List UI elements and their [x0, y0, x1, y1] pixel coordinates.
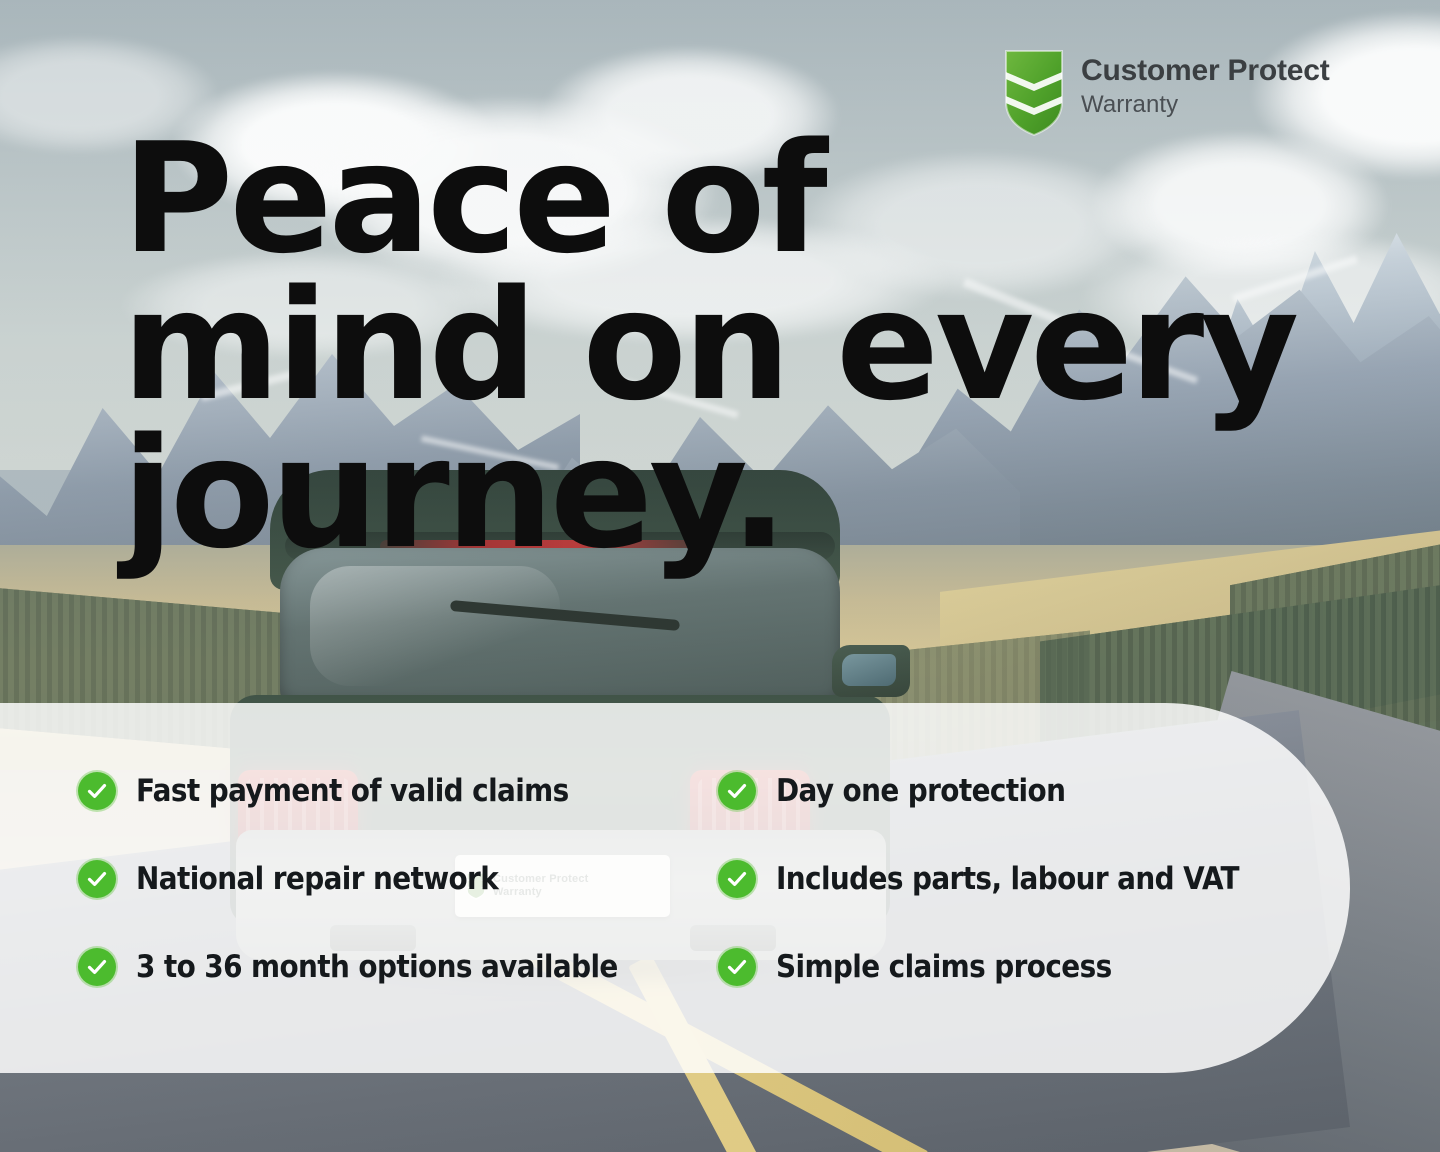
brand-title: Customer Protect	[1081, 55, 1330, 87]
feature-list: Fast payment of valid claims Day one pro…	[78, 747, 1338, 1011]
brand-logo: Customer Protect Warranty	[1005, 50, 1330, 136]
check-icon	[85, 955, 109, 979]
brand-subtitle: Warranty	[1081, 91, 1330, 119]
headline-line-2: mind on every	[122, 272, 1302, 419]
page-title: Peace of mind on every journey.	[122, 125, 1302, 567]
check-icon	[725, 955, 749, 979]
check-icon	[85, 867, 109, 891]
warranty-hero-banner: Customer Protect Warranty	[0, 0, 1440, 1152]
check-circle-icon	[78, 772, 116, 810]
brand-text: Customer Protect Warranty	[1081, 50, 1330, 119]
check-icon	[725, 779, 749, 803]
feature-panel: Fast payment of valid claims Day one pro…	[0, 703, 1350, 1073]
feature-item-national-repair-network: National repair network	[78, 860, 718, 898]
feature-label: Simple claims process	[776, 949, 1112, 985]
check-circle-icon	[718, 860, 756, 898]
shield-chevron-icon	[1005, 50, 1063, 136]
feature-label: Fast payment of valid claims	[136, 773, 569, 809]
feature-label: National repair network	[136, 861, 498, 897]
windscreen-reflection	[310, 566, 560, 686]
check-circle-icon	[718, 948, 756, 986]
headline-line-3: journey.	[122, 420, 1302, 567]
wing-mirror-glass	[842, 654, 896, 686]
feature-item-simple-claims-process: Simple claims process	[718, 948, 1338, 986]
check-icon	[725, 867, 749, 891]
check-circle-icon	[78, 948, 116, 986]
feature-label: 3 to 36 month options available	[136, 949, 618, 985]
feature-label: Includes parts, labour and VAT	[776, 861, 1239, 897]
feature-item-fast-payment: Fast payment of valid claims	[78, 772, 718, 810]
feature-item-parts-labour-vat: Includes parts, labour and VAT	[718, 860, 1338, 898]
feature-label: Day one protection	[776, 773, 1065, 809]
check-circle-icon	[78, 860, 116, 898]
feature-item-month-options: 3 to 36 month options available	[78, 948, 718, 986]
check-icon	[85, 779, 109, 803]
headline-line-1: Peace of	[122, 125, 1302, 272]
check-circle-icon	[718, 772, 756, 810]
feature-item-day-one-protection: Day one protection	[718, 772, 1338, 810]
